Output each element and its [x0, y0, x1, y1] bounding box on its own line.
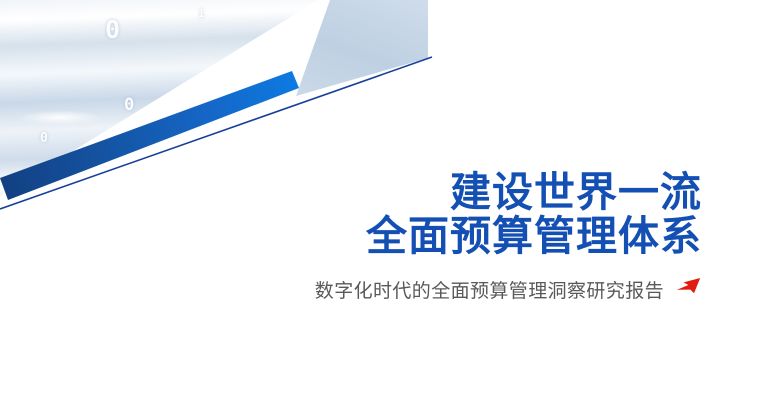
page-title-line1: 建设世界一流 — [315, 170, 702, 214]
photo-digit: 0 — [280, 22, 294, 45]
photo-digit: 0 — [105, 17, 120, 42]
page-title-line2: 全面预算管理体系 — [315, 214, 702, 258]
blue-diagonal-band — [0, 60, 300, 200]
cover-slide: 0 0 0 0 0 1 建设世界一流 全面预算管理体系 数字化时代的全面预算管理… — [0, 0, 759, 415]
subtitle-row: 数字化时代的全面预算管理洞察研究报告 — [315, 276, 702, 303]
red-arrow-logo-icon — [674, 276, 702, 302]
photo-texture — [0, 0, 340, 215]
photo-digit: 0 — [124, 97, 134, 114]
cover-text-block: 建设世界一流 全面预算管理体系 数字化时代的全面预算管理洞察研究报告 — [315, 170, 702, 303]
page-subtitle: 数字化时代的全面预算管理洞察研究报告 — [315, 276, 664, 303]
light-blue-grey-wedge — [296, 0, 428, 96]
digital-tech-photo: 0 0 0 0 0 1 — [0, 0, 340, 215]
photo-digit: 0 — [226, 62, 235, 77]
photo-digit: 0 — [40, 132, 48, 145]
photo-digit: 1 — [198, 8, 205, 19]
